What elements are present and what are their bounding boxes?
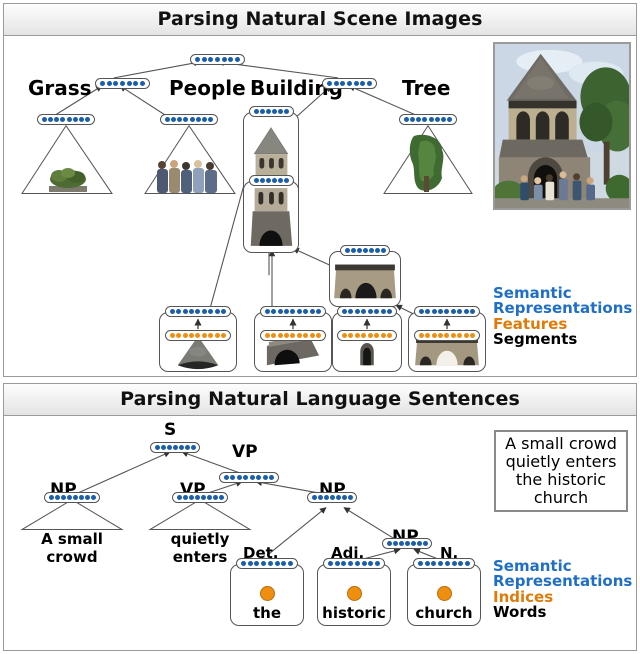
scene-legend-segments: Segments <box>493 332 632 347</box>
figure-root: Parsing Natural Scene Images <box>0 0 640 654</box>
language-legend: Semantic Representations Indices Words <box>493 559 632 620</box>
lang-word-semantic-church[interactable] <box>413 558 475 569</box>
lang-word-semantic-the[interactable] <box>236 558 298 569</box>
lang-node-np-mid[interactable] <box>307 492 357 503</box>
language-panel: Parsing Natural Language Sentences <box>3 383 637 651</box>
lang-word-semantic-historic[interactable] <box>323 558 385 569</box>
scene-photo <box>493 42 631 210</box>
language-panel-title: Parsing Natural Language Sentences <box>4 384 636 416</box>
label-vp-top: VP <box>232 442 258 462</box>
lang-phrase-leaf-1: A small crowd <box>22 530 122 566</box>
lang-phrase-leaf-1-line2: crowd <box>22 548 122 566</box>
lang-node-s[interactable] <box>150 442 200 453</box>
scene-photo-image <box>495 44 629 208</box>
lang-node-vp-left[interactable] <box>172 492 228 503</box>
label-s: S <box>164 420 176 440</box>
lang-phrase-leaf-1-line1: A small <box>22 530 122 548</box>
scene-legend: Semantic Representations Features Segmen… <box>493 286 632 347</box>
lang-word-church: church <box>404 604 484 622</box>
input-sentence-box: A small crowd quietly enters the histori… <box>494 430 628 512</box>
lang-word-the: the <box>230 604 304 622</box>
lang-node-np-left[interactable] <box>44 492 100 503</box>
lang-phrase-leaf-2-line2: enters <box>150 548 250 566</box>
scene-panel-title: Parsing Natural Scene Images <box>4 4 636 36</box>
lang-phrase-leaf-2: quietly enters <box>150 530 250 566</box>
lang-phrase-leaf-2-line1: quietly <box>150 530 250 548</box>
scene-panel-body: Grass People Building Tree <box>4 36 636 376</box>
lang-index-historic[interactable] <box>347 586 362 601</box>
lang-word-historic: historic <box>314 604 394 622</box>
lang-node-vp-top[interactable] <box>219 472 279 483</box>
scene-panel: Parsing Natural Scene Images <box>3 3 637 377</box>
lang-index-church[interactable] <box>437 586 452 601</box>
lang-node-np-low[interactable] <box>382 538 432 549</box>
language-legend-words: Words <box>493 605 632 620</box>
language-panel-body: S VP NP VP NP NP <box>4 416 636 650</box>
lang-index-the[interactable] <box>260 586 275 601</box>
